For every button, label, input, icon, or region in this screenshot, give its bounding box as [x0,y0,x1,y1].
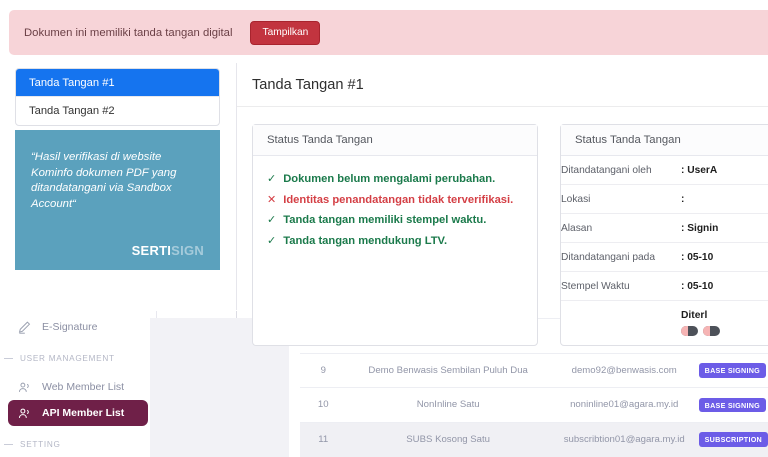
status-check-label: Tanda tangan mendukung LTV. [283,231,447,252]
signature-tab-list: Tanda Tangan #1 Tanda Tangan #2 [15,68,220,126]
status-check-row: ✕ Identitas penandatangan tidak terverif… [267,190,523,211]
signature-status-panel: Status Tanda Tangan ✓ Dokumen belum meng… [252,124,538,346]
logo-primary-text: SERTI [132,243,172,258]
detail-row: Ditandatangani oleh : UserA [561,156,768,185]
cell-no: 9 [300,353,347,388]
pen-icon [18,321,31,334]
signature-detail-table: Ditandatangani oleh : UserA Lokasi : Ala… [561,156,768,345]
detail-row: Ditandatangani pada : 05-10 [561,243,768,272]
quote-text: “Hasil verifikasi di website Kominfo dok… [31,150,204,213]
app-sidebar: E-Signature USER MANAGEMENT Web Member L… [0,300,157,457]
detail-key: Ditandatangani pada [561,243,681,272]
spacer-cell [561,301,681,345]
detail-value: : [681,185,768,214]
status-check-row: ✓ Tanda tangan memiliki stempel waktu. [267,210,523,231]
cell-email: noninline01@agara.my.id [550,388,699,423]
certificate-badge-icon [703,326,720,336]
section-dash-icon [4,358,13,359]
detail-key: Alasan [561,214,681,243]
sidebar-section-label: SETTING [20,440,61,449]
show-signature-button[interactable]: Tampilkan [250,21,320,45]
cell-email: demo92@benwasis.com [550,353,699,388]
check-icon: ✓ [267,210,276,230]
sidebar-item-label: E-Signature [42,321,97,333]
cell-name: Demo Benwasis Sembilan Puluh Dua [347,353,550,388]
status-check-label: Identitas penandatangan tidak terverifik… [283,190,513,211]
tab-tanda-tangan-2[interactable]: Tanda Tangan #2 [16,97,219,125]
detail-row: Stempel Waktu : 05-10 [561,272,768,301]
detail-row: Alasan : Signin [561,214,768,243]
page-title: Tanda Tangan #1 [237,63,768,107]
status-check-row: ✓ Dokumen belum mengalami perubahan. [267,169,523,190]
sidebar-section-label: USER MANAGEMENT [20,354,115,363]
status-badge: BASE SIGNING [699,363,766,378]
cell-name: SUBS Kosong Satu [347,422,550,457]
section-dash-icon [4,444,13,445]
panel-body: ✓ Dokumen belum mengalami perubahan. ✕ I… [253,156,537,268]
digital-signature-alert: Dokumen ini memiliki tanda tangan digita… [9,10,768,55]
certificate-badges [681,326,768,336]
sidebar-item-e-signature[interactable]: E-Signature [8,314,148,340]
cell-badge: BASE SIGNING [699,353,768,388]
sidebar-item-label: Web Member List [42,381,124,393]
status-check-row: ✓ Tanda tangan mendukung LTV. [267,231,523,252]
signature-detail-area: Tanda Tangan #1 Status Tanda Tangan ✓ Do… [236,63,768,310]
detail-value: : UserA [681,156,768,185]
sidebar-item-web-member-list[interactable]: Web Member List [8,374,148,400]
cell-badge: SUBSCRIPTION [699,422,768,457]
cell-no: 11 [300,422,347,457]
status-check-label: Dokumen belum mengalami perubahan. [283,169,495,190]
cell-no: 10 [300,388,347,423]
certificate-badge-icon [681,326,698,336]
status-badge: BASE SIGNING [699,398,766,413]
detail-value: : Signin [681,214,768,243]
detail-key: Lokasi [561,185,681,214]
table-row[interactable]: 11 SUBS Kosong Satu subscribtion01@agara… [300,422,768,457]
logo-secondary-text: SIGN [171,243,204,258]
accepted-cell: Diterl [681,301,768,345]
cell-name: NonInline Satu [347,388,550,423]
users-icon [18,407,31,420]
sidebar-section-setting: SETTING [4,440,156,449]
panel-header: Status Tanda Tangan [561,125,768,156]
alert-message: Dokumen ini memiliki tanda tangan digita… [24,27,232,39]
check-icon: ✓ [267,169,276,189]
quote-card: “Hasil verifikasi di website Kominfo dok… [15,130,220,270]
users-icon [18,381,31,394]
sidebar-item-api-member-list[interactable]: API Member List [8,400,148,426]
cross-icon: ✕ [267,190,276,210]
detail-value: : 05-10 [681,272,768,301]
status-check-label: Tanda tangan memiliki stempel waktu. [283,210,486,231]
check-icon: ✓ [267,231,276,251]
detail-value: : 05-10 [681,243,768,272]
detail-accepted-row: Diterl [561,301,768,345]
detail-key: Ditandatangani oleh [561,156,681,185]
detail-key: Stempel Waktu [561,272,681,301]
cell-email: subscribtion01@agara.my.id [550,422,699,457]
signature-detail-panel: Status Tanda Tangan Ditandatangani oleh … [560,124,768,346]
sidebar-item-label: API Member List [42,407,124,419]
cell-badge: BASE SIGNING [699,388,768,423]
table-row[interactable]: 10 NonInline Satu noninline01@agara.my.i… [300,388,768,423]
signature-viewer: Dokumen ini memiliki tanda tangan digita… [0,0,768,311]
detail-row: Lokasi : [561,185,768,214]
status-badge: SUBSCRIPTION [699,432,768,447]
table-row[interactable]: 9 Demo Benwasis Sembilan Puluh Dua demo9… [300,353,768,388]
tab-tanda-tangan-1[interactable]: Tanda Tangan #1 [16,69,219,97]
sertisign-logo: SERTISIGN [132,243,204,258]
sidebar-section-user-management: USER MANAGEMENT [4,354,156,363]
accepted-label: Diterl [681,310,768,321]
panel-header: Status Tanda Tangan [253,125,537,156]
panels-row: Status Tanda Tangan ✓ Dokumen belum meng… [237,107,768,346]
